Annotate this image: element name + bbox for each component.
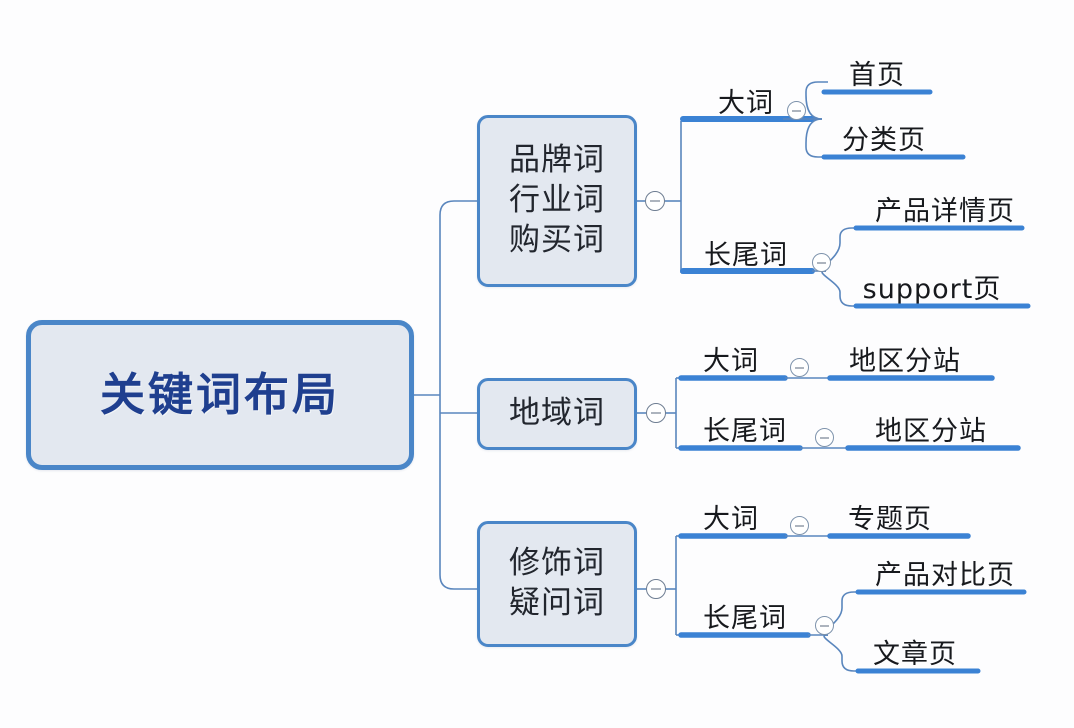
branch-node-2-line-1: 地域词 <box>509 394 605 434</box>
mindmap-canvas: 关键词布局 品牌词 行业词 购买词 大词 首页 分类页 长尾词 产品详情页 su… <box>0 0 1074 728</box>
collapse-toggle-branch-2[interactable] <box>646 403 666 423</box>
sublabel-branch-3-child-2: 长尾词 <box>703 605 787 632</box>
leaf-label-diqufenzhan-2: 地区分站 <box>875 418 987 445</box>
leaf-label-shouye: 首页 <box>849 62 905 89</box>
collapse-toggle-branch-2-child-2[interactable] <box>815 428 834 447</box>
leaf-label-chanpinxiangqingye: 产品详情页 <box>875 198 1015 225</box>
root-node[interactable]: 关键词布局 <box>26 320 414 470</box>
collapse-toggle-branch-1-child-1[interactable] <box>787 101 806 120</box>
collapse-toggle-branch-3[interactable] <box>646 579 666 599</box>
branch-node-1-line-3: 购买词 <box>509 221 605 261</box>
branch-node-1-line-2: 行业词 <box>509 181 605 221</box>
leaf-label-fenleiye: 分类页 <box>842 127 926 154</box>
branch-node-3[interactable]: 修饰词 疑问词 <box>477 521 637 647</box>
sublabel-branch-2-child-2: 长尾词 <box>703 418 787 445</box>
branch-node-1-line-1: 品牌词 <box>509 141 605 181</box>
collapse-toggle-branch-3-child-2[interactable] <box>815 616 834 635</box>
leaf-label-chanpinduibiye: 产品对比页 <box>875 562 1015 589</box>
leaf-label-diqufenzhan-1: 地区分站 <box>849 348 961 375</box>
leaf-label-wenzhangye: 文章页 <box>873 641 957 668</box>
collapse-toggle-branch-3-child-1[interactable] <box>790 516 809 535</box>
collapse-toggle-branch-1[interactable] <box>645 191 665 211</box>
collapse-toggle-branch-1-child-2[interactable] <box>812 253 831 272</box>
leaf-label-zhuantiye: 专题页 <box>848 506 932 533</box>
collapse-toggle-branch-2-child-1[interactable] <box>790 358 809 377</box>
branch-node-2[interactable]: 地域词 <box>477 378 637 450</box>
root-label: 关键词布局 <box>100 370 340 420</box>
branch-node-1[interactable]: 品牌词 行业词 购买词 <box>477 115 637 287</box>
sublabel-branch-2-child-1: 大词 <box>703 348 759 375</box>
branch-node-3-line-2: 疑问词 <box>509 584 605 624</box>
sublabel-branch-1-child-2: 长尾词 <box>704 242 788 269</box>
leaf-label-support: support页 <box>863 276 1002 303</box>
branch-node-3-line-1: 修饰词 <box>509 544 605 584</box>
sublabel-branch-3-child-1: 大词 <box>703 506 759 533</box>
sublabel-branch-1-child-1: 大词 <box>718 90 774 117</box>
